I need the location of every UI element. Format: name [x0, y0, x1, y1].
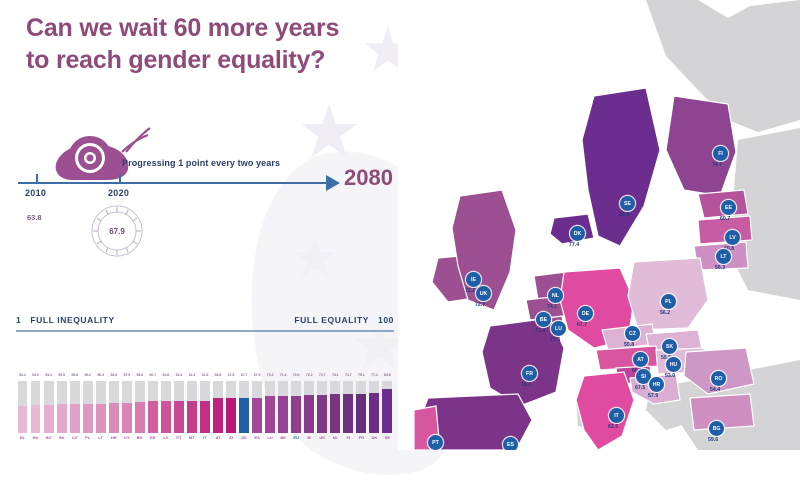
map-value-fi: 74.7: [712, 162, 722, 168]
map-pin-ie[interactable]: IE: [466, 272, 481, 287]
map-pin-es[interactable]: ES: [503, 437, 518, 450]
bar-fill: [161, 401, 171, 433]
bar-fill: [187, 401, 197, 433]
bar-fill: [330, 394, 340, 433]
bar-country-code: FI: [342, 435, 355, 440]
bar-country-code: HR: [107, 435, 120, 440]
bar-column[interactable]: [303, 381, 316, 433]
bar-country-code: SI: [225, 435, 238, 440]
left-panel: Can we wait 60 more years to reach gende…: [0, 0, 410, 450]
bar-value-label: 74.7: [342, 373, 355, 377]
map-pin-be[interactable]: BE: [536, 312, 551, 327]
bar-value-label: 67.9: [251, 373, 264, 377]
bar-value-label: 72.0: [290, 373, 303, 377]
bar-country-code: BG: [133, 435, 146, 440]
bar-column[interactable]: [107, 381, 120, 433]
timeline-value-start: 63.8: [27, 213, 42, 222]
timeline-year-mid: 2020: [108, 188, 129, 198]
bar-value-label: 67.7: [238, 373, 251, 377]
bar-value-label: 56.3: [94, 373, 107, 377]
europe-map: IE72.2UK72.7NL74.1DK77.4SE83.8FI74.7EE60…: [398, 0, 800, 450]
bar-country-code: CY: [120, 435, 133, 440]
bar-value-label: 61.3: [172, 373, 185, 377]
map-value-lu: 70.3: [550, 337, 560, 343]
bar-value-label: 54.4: [42, 373, 55, 377]
bar-column[interactable]: [42, 381, 55, 433]
map-pin-ee[interactable]: EE: [721, 200, 736, 215]
map-pin-lu[interactable]: LU: [551, 321, 566, 336]
bar-column[interactable]: [172, 381, 185, 433]
bar-column[interactable]: [211, 381, 224, 433]
bar-fill: [200, 401, 210, 433]
bar-column[interactable]: [159, 381, 172, 433]
bar-country-code: LV: [159, 435, 172, 440]
bar-column[interactable]: [81, 381, 94, 433]
bar-column[interactable]: [55, 381, 68, 433]
map-pin-de[interactable]: DE: [578, 306, 593, 321]
map-value-ie: 72.2: [465, 288, 475, 294]
bar-fill: [317, 395, 327, 433]
map-value-hu: 53.0: [665, 373, 675, 379]
bar-column[interactable]: [355, 381, 368, 433]
map-value-nl: 74.1: [547, 304, 557, 310]
headline-line-1: Can we wait 60 more years: [26, 14, 339, 42]
bar-country-code: EE: [146, 435, 159, 440]
map-value-se: 83.8: [619, 212, 629, 218]
map-value-ee: 60.7: [720, 216, 730, 222]
bar-column[interactable]: [342, 381, 355, 433]
bar-country-code: BE: [277, 435, 290, 440]
bar-fill: [226, 398, 236, 433]
bar-fill: [31, 405, 41, 433]
bar-fill: [174, 401, 184, 433]
bar-fill: [239, 398, 249, 433]
bar-value-label: 60.8: [159, 373, 172, 377]
bar-column[interactable]: [381, 381, 394, 433]
bar-fill: [135, 402, 145, 433]
page-title: Can we wait 60 more years to reach gende…: [26, 12, 386, 76]
scale-max-value: 100: [378, 315, 394, 325]
map-pin-cz[interactable]: CZ: [625, 326, 640, 341]
bar-value-label: 66.5: [211, 373, 224, 377]
bar-value-label: 56.2: [81, 373, 94, 377]
bar-value-label: 75.1: [355, 373, 368, 377]
snail-icon: [52, 122, 157, 184]
bar-column[interactable]: [225, 381, 238, 433]
bar-value-labels: 52.253.054.455.555.856.256.356.957.959.6…: [16, 370, 394, 380]
map-value-fr: 75.1: [521, 382, 531, 388]
timeline-tick-mid: [119, 174, 121, 184]
map-pin-fr[interactable]: FR: [522, 366, 537, 381]
headline-line-2: to reach gender equality?: [26, 44, 386, 76]
map-value-de: 67.7: [577, 322, 587, 328]
bar-column[interactable]: [329, 381, 342, 433]
bar-value-label: 61.5: [198, 373, 211, 377]
map-pin-pt[interactable]: PT: [428, 435, 443, 450]
timeline-year-start: 2010: [25, 188, 46, 198]
bar-country-code: NL: [329, 435, 342, 440]
equality-scale: 1 FULL INEQUALITY FULL EQUALITY 100: [16, 315, 394, 332]
map-pin-hu[interactable]: HU: [666, 357, 681, 372]
bar-column[interactable]: [277, 381, 290, 433]
index-score-value: 67.9: [90, 204, 144, 258]
bar-country-code: FR: [355, 435, 368, 440]
bar-value-label: 71.4: [277, 373, 290, 377]
bar-fill: [252, 398, 262, 433]
bar-column[interactable]: [238, 381, 251, 433]
arrow-right-icon: [326, 175, 340, 191]
map-pin-lt[interactable]: LT: [716, 249, 731, 264]
bar-value-label: 52.2: [16, 373, 29, 377]
bar-country-code: DE: [238, 435, 251, 440]
bar-country-code: AT: [211, 435, 224, 440]
bar-country-codes: ELHUROSKCZPLLTHRCYBGEELVPTMTITATSIDEESLU…: [16, 435, 394, 440]
map-pin-at[interactable]: AT: [633, 352, 648, 367]
map-pin-dk[interactable]: DK: [570, 226, 585, 241]
bar-fill: [213, 398, 223, 433]
bar-fill: [265, 396, 275, 433]
map-value-be: 71.4: [535, 328, 545, 334]
timeline-year-end: 2080: [344, 165, 393, 191]
bar-fill: [109, 403, 119, 433]
bar-country-code: HU: [29, 435, 42, 440]
map-pin-it[interactable]: IT: [609, 408, 624, 423]
bar-column[interactable]: [146, 381, 159, 433]
map-value-lt: 56.3: [715, 265, 725, 271]
bar-value-label: 61.4: [185, 373, 198, 377]
bar-fill: [83, 404, 93, 433]
bar-column[interactable]: [368, 381, 381, 433]
map-value-uk: 72.7: [475, 302, 485, 308]
map-pin-bg[interactable]: BG: [709, 421, 724, 436]
bar-column[interactable]: [185, 381, 198, 433]
map-pin-hr[interactable]: HR: [649, 377, 664, 392]
map-value-cz: 55.8: [624, 342, 634, 348]
map-pin-uk[interactable]: UK: [476, 286, 491, 301]
bar-country-code: EU: [290, 435, 303, 440]
map-value-bg: 59.6: [708, 437, 718, 443]
bar-country-code: EL: [16, 435, 29, 440]
bar-value-label: 60.7: [146, 373, 159, 377]
bar-country-code: IT: [198, 435, 211, 440]
map-pin-ro[interactable]: RO: [711, 371, 726, 386]
bar-fill: [304, 395, 314, 433]
map-pin-nl[interactable]: NL: [548, 288, 563, 303]
bar-value-label: 72.7: [316, 373, 329, 377]
bar-country-code: ES: [251, 435, 264, 440]
bar-column[interactable]: [94, 381, 107, 433]
map-value-it: 63.5: [608, 424, 618, 430]
bar-column[interactable]: [251, 381, 264, 433]
scale-max-label: FULL EQUALITY: [294, 315, 369, 325]
bar-country-code: SE: [381, 435, 394, 440]
bar-fill: [369, 393, 379, 433]
bar-country-code: SK: [55, 435, 68, 440]
bar-country-code: LT: [94, 435, 107, 440]
bar-column[interactable]: [133, 381, 146, 433]
scale-min-label: FULL INEQUALITY: [30, 315, 114, 325]
map-pin-sk[interactable]: SK: [662, 339, 677, 354]
bar-fill: [44, 405, 54, 433]
bar-fill: [18, 406, 28, 433]
bar-column[interactable]: [198, 381, 211, 433]
bar-value-label: 74.1: [329, 373, 342, 377]
bar-value-label: 57.9: [120, 373, 133, 377]
scale-divider: [16, 330, 394, 332]
bar-value-label: 59.6: [133, 373, 146, 377]
bar-value-label: 72.2: [303, 373, 316, 377]
bar-column[interactable]: [120, 381, 133, 433]
bar-fill: [148, 401, 158, 433]
bar-column[interactable]: [316, 381, 329, 433]
bar-column[interactable]: [264, 381, 277, 433]
map-value-dk: 77.4: [569, 242, 579, 248]
bar-value-label: 77.4: [368, 373, 381, 377]
bar-country-code: CZ: [68, 435, 81, 440]
bar-fill: [343, 394, 353, 433]
bar-fill: [278, 396, 288, 433]
bar-fill: [57, 404, 67, 433]
bar-fill: [96, 404, 106, 433]
bar-column[interactable]: [68, 381, 81, 433]
scale-min-value: 1: [16, 315, 21, 325]
timeline: Progressing 1 point every two years 2010…: [14, 120, 404, 240]
map-pin-se[interactable]: SE: [620, 196, 635, 211]
timeline-axis: [18, 182, 328, 184]
bar-columns: [16, 381, 394, 433]
bar-country-code: PL: [81, 435, 94, 440]
bar-country-code: UK: [316, 435, 329, 440]
country-score-bar-chart: 52.253.054.455.555.856.256.356.957.959.6…: [16, 370, 394, 450]
bar-value-label: 70.3: [264, 373, 277, 377]
map-value-pl: 56.2: [660, 310, 670, 316]
bar-column[interactable]: [29, 381, 42, 433]
bar-fill: [122, 403, 132, 433]
bar-value-label: 67.5: [225, 373, 238, 377]
map-value-si: 67.5: [635, 385, 645, 391]
bar-fill: [291, 396, 301, 433]
europe-map-svg: [398, 0, 800, 450]
bar-value-label: 56.9: [107, 373, 120, 377]
timeline-note: Progressing 1 point every two years: [122, 158, 280, 168]
bar-country-code: PT: [172, 435, 185, 440]
bar-country-code: RO: [42, 435, 55, 440]
bar-country-code: IE: [303, 435, 316, 440]
map-value-ro: 54.4: [710, 387, 720, 393]
map-pin-lv[interactable]: LV: [725, 230, 740, 245]
map-value-hr: 57.9: [648, 393, 658, 399]
bar-value-label: 83.8: [381, 373, 394, 377]
bar-fill: [70, 404, 80, 433]
bar-column[interactable]: [16, 381, 29, 433]
bar-value-label: 53.0: [29, 373, 42, 377]
map-pin-fi[interactable]: FI: [713, 146, 728, 161]
bar-column[interactable]: [290, 381, 303, 433]
bar-country-code: MT: [185, 435, 198, 440]
bar-country-code: DK: [368, 435, 381, 440]
timeline-tick-start: [36, 174, 38, 184]
bar-fill: [382, 389, 392, 433]
bar-fill: [356, 394, 366, 433]
bar-value-label: 55.5: [55, 373, 68, 377]
map-pin-pl[interactable]: PL: [661, 294, 676, 309]
bar-country-code: LU: [264, 435, 277, 440]
bar-value-label: 55.8: [68, 373, 81, 377]
index-score-badge: 67.9: [90, 204, 144, 258]
